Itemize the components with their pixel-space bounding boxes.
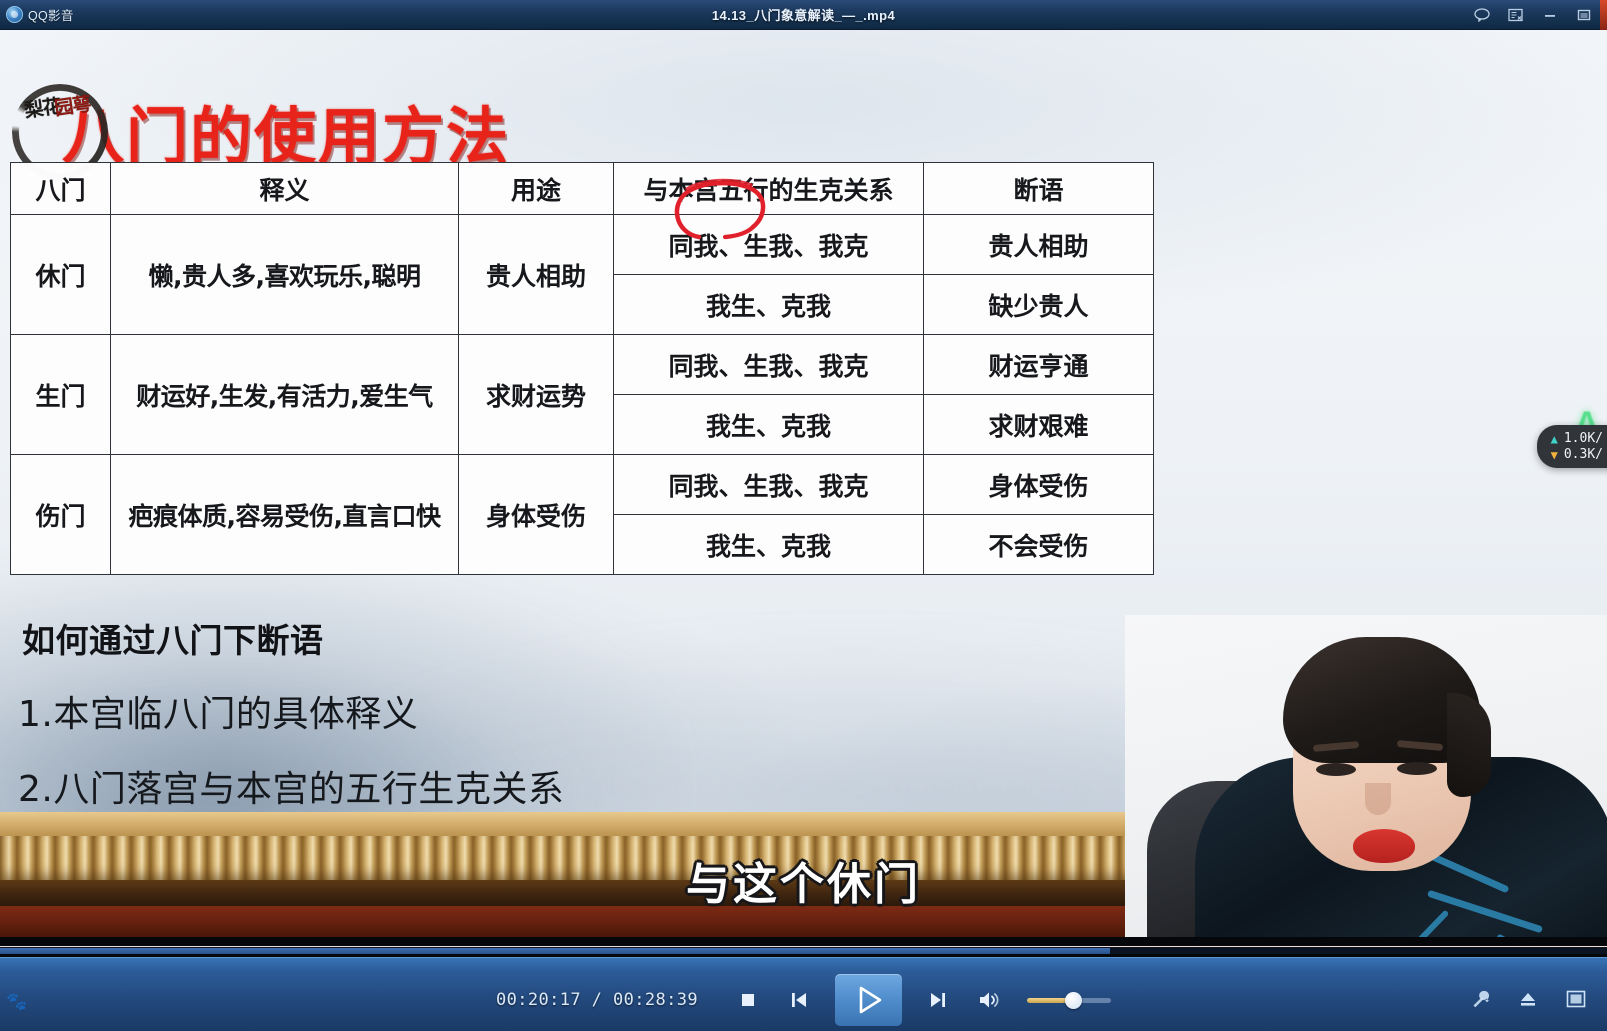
- network-download-row: ▼ 0.3K/: [1551, 447, 1603, 462]
- window-controls: [1473, 0, 1593, 30]
- next-button[interactable]: [923, 985, 953, 1015]
- cell-verdict: 缺少贵人: [924, 275, 1154, 335]
- network-speed-widget[interactable]: ▲ 1.0K/ ▼ 0.3K/: [1537, 425, 1607, 468]
- cell-bamen: 伤门: [11, 455, 111, 575]
- cell-shiyi: 懒,贵人多,喜欢玩乐,聪明: [111, 215, 459, 335]
- eject-icon[interactable]: [1515, 986, 1541, 1012]
- time-display: 00:20:17 / 00:28:39: [496, 990, 698, 1010]
- cell-yongtu: 贵人相助: [459, 215, 614, 335]
- transport-controls: 00:20:17 / 00:28:39: [0, 974, 1607, 1026]
- header-cell-bamen: 八门: [11, 163, 111, 215]
- bullet-item-1: 1.本宫临八门的具体释义: [18, 685, 418, 737]
- header-cell-yongtu: 用途: [459, 163, 614, 215]
- section-heading: 如何通过八门下断语: [22, 614, 324, 662]
- previous-button[interactable]: [784, 985, 814, 1015]
- cell-verdict: 求财艰难: [924, 395, 1154, 455]
- cell-relation: 我生、克我: [614, 395, 924, 455]
- cell-shiyi: 疤痕体质,容易受伤,直言口快: [111, 455, 459, 575]
- watermark-stamp-text: 梨花 园萼: [23, 91, 102, 172]
- video-subtitle: 与这个休门: [0, 848, 1607, 912]
- volume-slider[interactable]: [1027, 990, 1111, 1010]
- cell-yongtu: 身体受伤: [459, 455, 614, 575]
- cell-bamen: 生门: [11, 335, 111, 455]
- seek-bar[interactable]: [0, 946, 1607, 954]
- controls-strip: 🐾 00:20:17 / 00:28:39: [0, 957, 1607, 1031]
- window-titlebar[interactable]: QQ影音 14.13_八门象意解读_—_.mp4: [0, 0, 1607, 30]
- cell-verdict: 不会受伤: [924, 515, 1154, 575]
- cell-relation: 同我、生我、我克: [614, 335, 924, 395]
- table-row: 生门 财运好,生发,有活力,爱生气 求财运势 同我、生我、我克 财运亨通: [11, 335, 1154, 395]
- screenshot-icon[interactable]: [1507, 7, 1525, 23]
- player-right-controls: [1467, 986, 1589, 1012]
- window-title: 14.13_八门象意解读_—_.mp4: [0, 5, 1607, 24]
- video-surface[interactable]: 八门的使用方法 梨花 园萼 八门 释义 用途 与本宫五行的生克关系 断语: [0, 30, 1607, 937]
- table-row: 休门 懒,贵人多,喜欢玩乐,聪明 贵人相助 同我、生我、我克 贵人相助: [11, 215, 1154, 275]
- volume-button[interactable]: [974, 985, 1004, 1015]
- fullscreen-icon[interactable]: [1563, 986, 1589, 1012]
- stop-button[interactable]: [733, 985, 763, 1015]
- play-button[interactable]: [835, 974, 902, 1026]
- cell-relation: 我生、克我: [614, 515, 924, 575]
- qq-player-logo-icon: [6, 6, 23, 23]
- header-cell-duanyu: 断语: [924, 163, 1154, 215]
- cell-relation: 同我、生我、我克: [614, 455, 924, 515]
- cell-verdict: 身体受伤: [924, 455, 1154, 515]
- arrow-down-icon: ▼: [1551, 448, 1558, 462]
- table-header-row: 八门 释义 用途 与本宫五行的生克关系 断语: [11, 163, 1154, 215]
- bamen-table: 八门 释义 用途 与本宫五行的生克关系 断语 休门 懒,贵人多,喜欢玩乐,聪明 …: [10, 162, 1154, 575]
- cell-yongtu: 求财运势: [459, 335, 614, 455]
- settings-wrench-icon[interactable]: [1467, 986, 1493, 1012]
- network-upload-row: ▲ 1.0K/: [1551, 431, 1603, 446]
- titlebar-app-identity: QQ影音: [0, 5, 220, 24]
- arrow-up-icon: ▲: [1551, 432, 1558, 446]
- upload-speed-label: 1.0K/: [1564, 431, 1603, 446]
- minimize-icon[interactable]: [1541, 7, 1559, 23]
- cell-relation: 我生、克我: [614, 275, 924, 335]
- download-speed-label: 0.3K/: [1564, 447, 1603, 462]
- cell-verdict: 贵人相助: [924, 215, 1154, 275]
- app-name-label: QQ影音: [28, 5, 74, 24]
- header-cell-shiyi: 释义: [111, 163, 459, 215]
- player-control-bar: 🐾 00:20:17 / 00:28:39: [0, 937, 1607, 1031]
- cell-bamen: 休门: [11, 215, 111, 335]
- feedback-icon[interactable]: [1473, 7, 1491, 23]
- seek-bar-progress: [0, 948, 1110, 954]
- bullet-item-2: 2.八门落宫与本宫的五行生克关系: [18, 760, 564, 812]
- bamen-table-wrapper: 八门 释义 用途 与本宫五行的生克关系 断语 休门 懒,贵人多,喜欢玩乐,聪明 …: [10, 162, 1153, 575]
- cell-shiyi: 财运好,生发,有活力,爱生气: [111, 335, 459, 455]
- volume-slider-knob[interactable]: [1065, 992, 1082, 1009]
- cell-verdict: 财运亨通: [924, 335, 1154, 395]
- restore-icon[interactable]: [1575, 7, 1593, 23]
- header-cell-relation: 与本宫五行的生克关系: [614, 163, 924, 215]
- table-row: 伤门 疤痕体质,容易受伤,直言口快 身体受伤 同我、生我、我克 身体受伤: [11, 455, 1154, 515]
- watermark-col2: 园萼: [53, 94, 92, 119]
- cell-relation: 同我、生我、我克: [614, 215, 924, 275]
